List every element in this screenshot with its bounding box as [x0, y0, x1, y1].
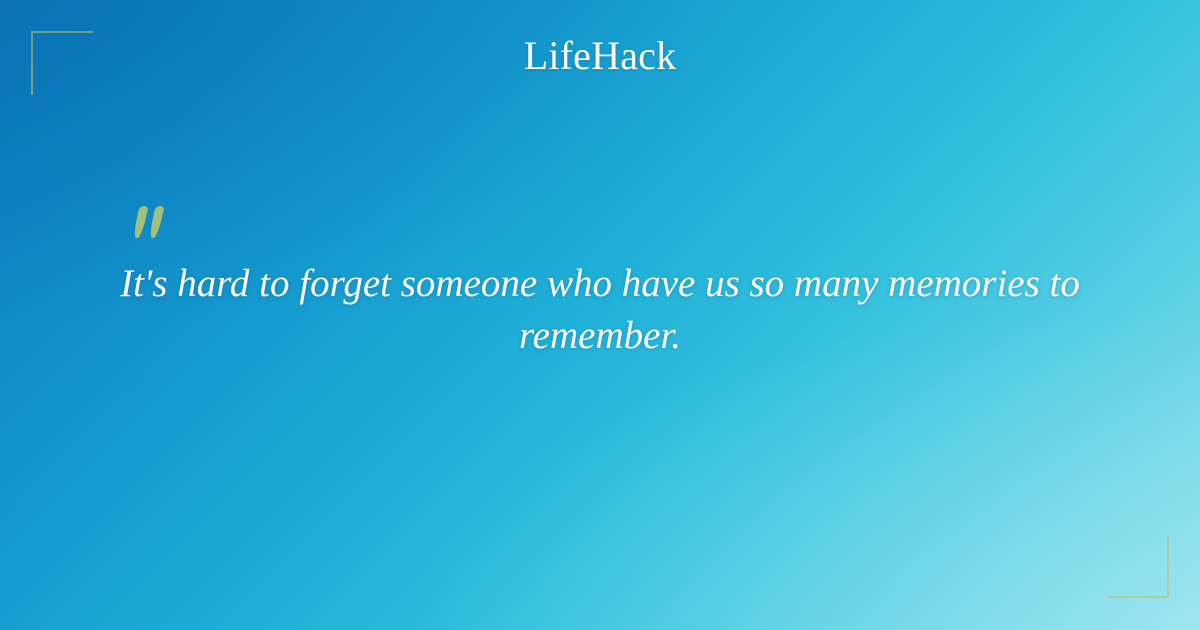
brand-wordmark: LifeHack: [524, 36, 677, 76]
bracket-vertical-line: [1167, 535, 1169, 598]
quotation-mark-stroke-right: [148, 206, 164, 238]
quotation-mark-stroke-left: [132, 206, 148, 238]
bracket-horizontal-line: [1108, 596, 1169, 598]
brand-header: LifeHack: [0, 36, 1200, 76]
quote-block: It's hard to forget someone who have us …: [100, 196, 1100, 362]
quote-text: It's hard to forget someone who have us …: [100, 258, 1100, 362]
corner-bracket-icon-bottom-right: [1108, 535, 1169, 598]
quotation-mark-icon: [134, 196, 174, 242]
bracket-horizontal-line: [31, 31, 93, 33]
quote-card: LifeHack It's hard to forget someone who…: [0, 0, 1200, 630]
